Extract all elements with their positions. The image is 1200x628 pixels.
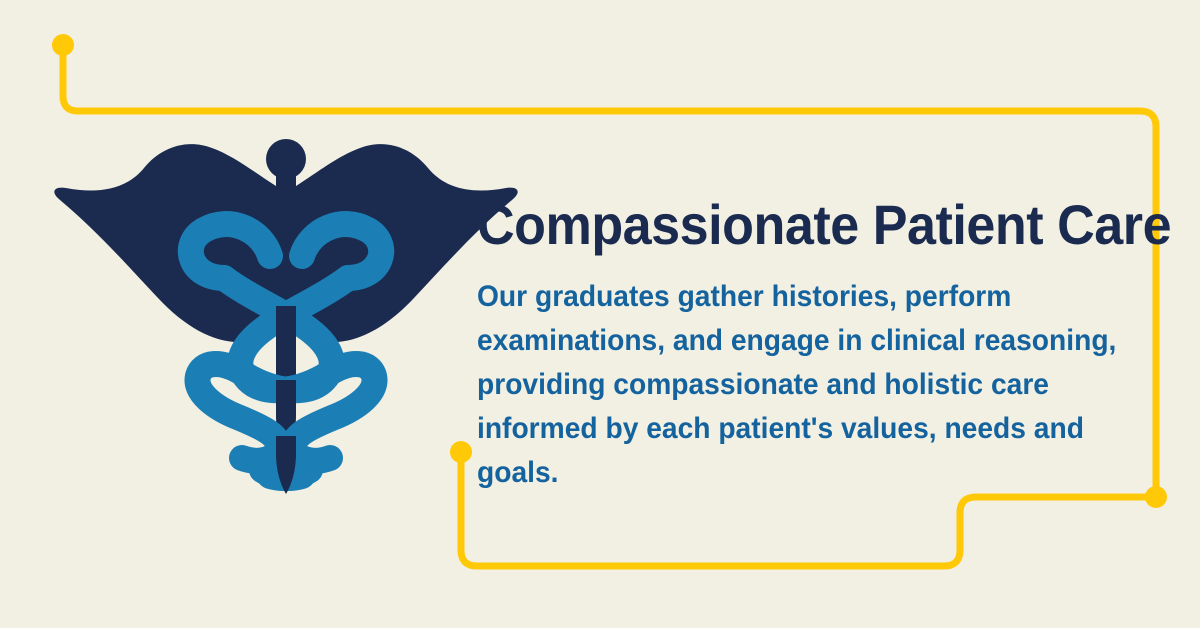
page-title: Compassionate Patient Care bbox=[477, 196, 1091, 253]
caduceus-staff-highlights bbox=[276, 306, 296, 494]
caduceus-left-wing bbox=[54, 144, 276, 342]
infographic-canvas: Compassionate Patient Care Our graduates… bbox=[0, 0, 1200, 628]
text-block: Compassionate Patient Care Our graduates… bbox=[477, 196, 1137, 496]
connector-junction-dot bbox=[1145, 486, 1167, 508]
caduceus-icon bbox=[48, 118, 524, 520]
top-connector-start-dot bbox=[52, 34, 74, 56]
body-paragraph: Our graduates gather histories, perform … bbox=[477, 275, 1135, 495]
